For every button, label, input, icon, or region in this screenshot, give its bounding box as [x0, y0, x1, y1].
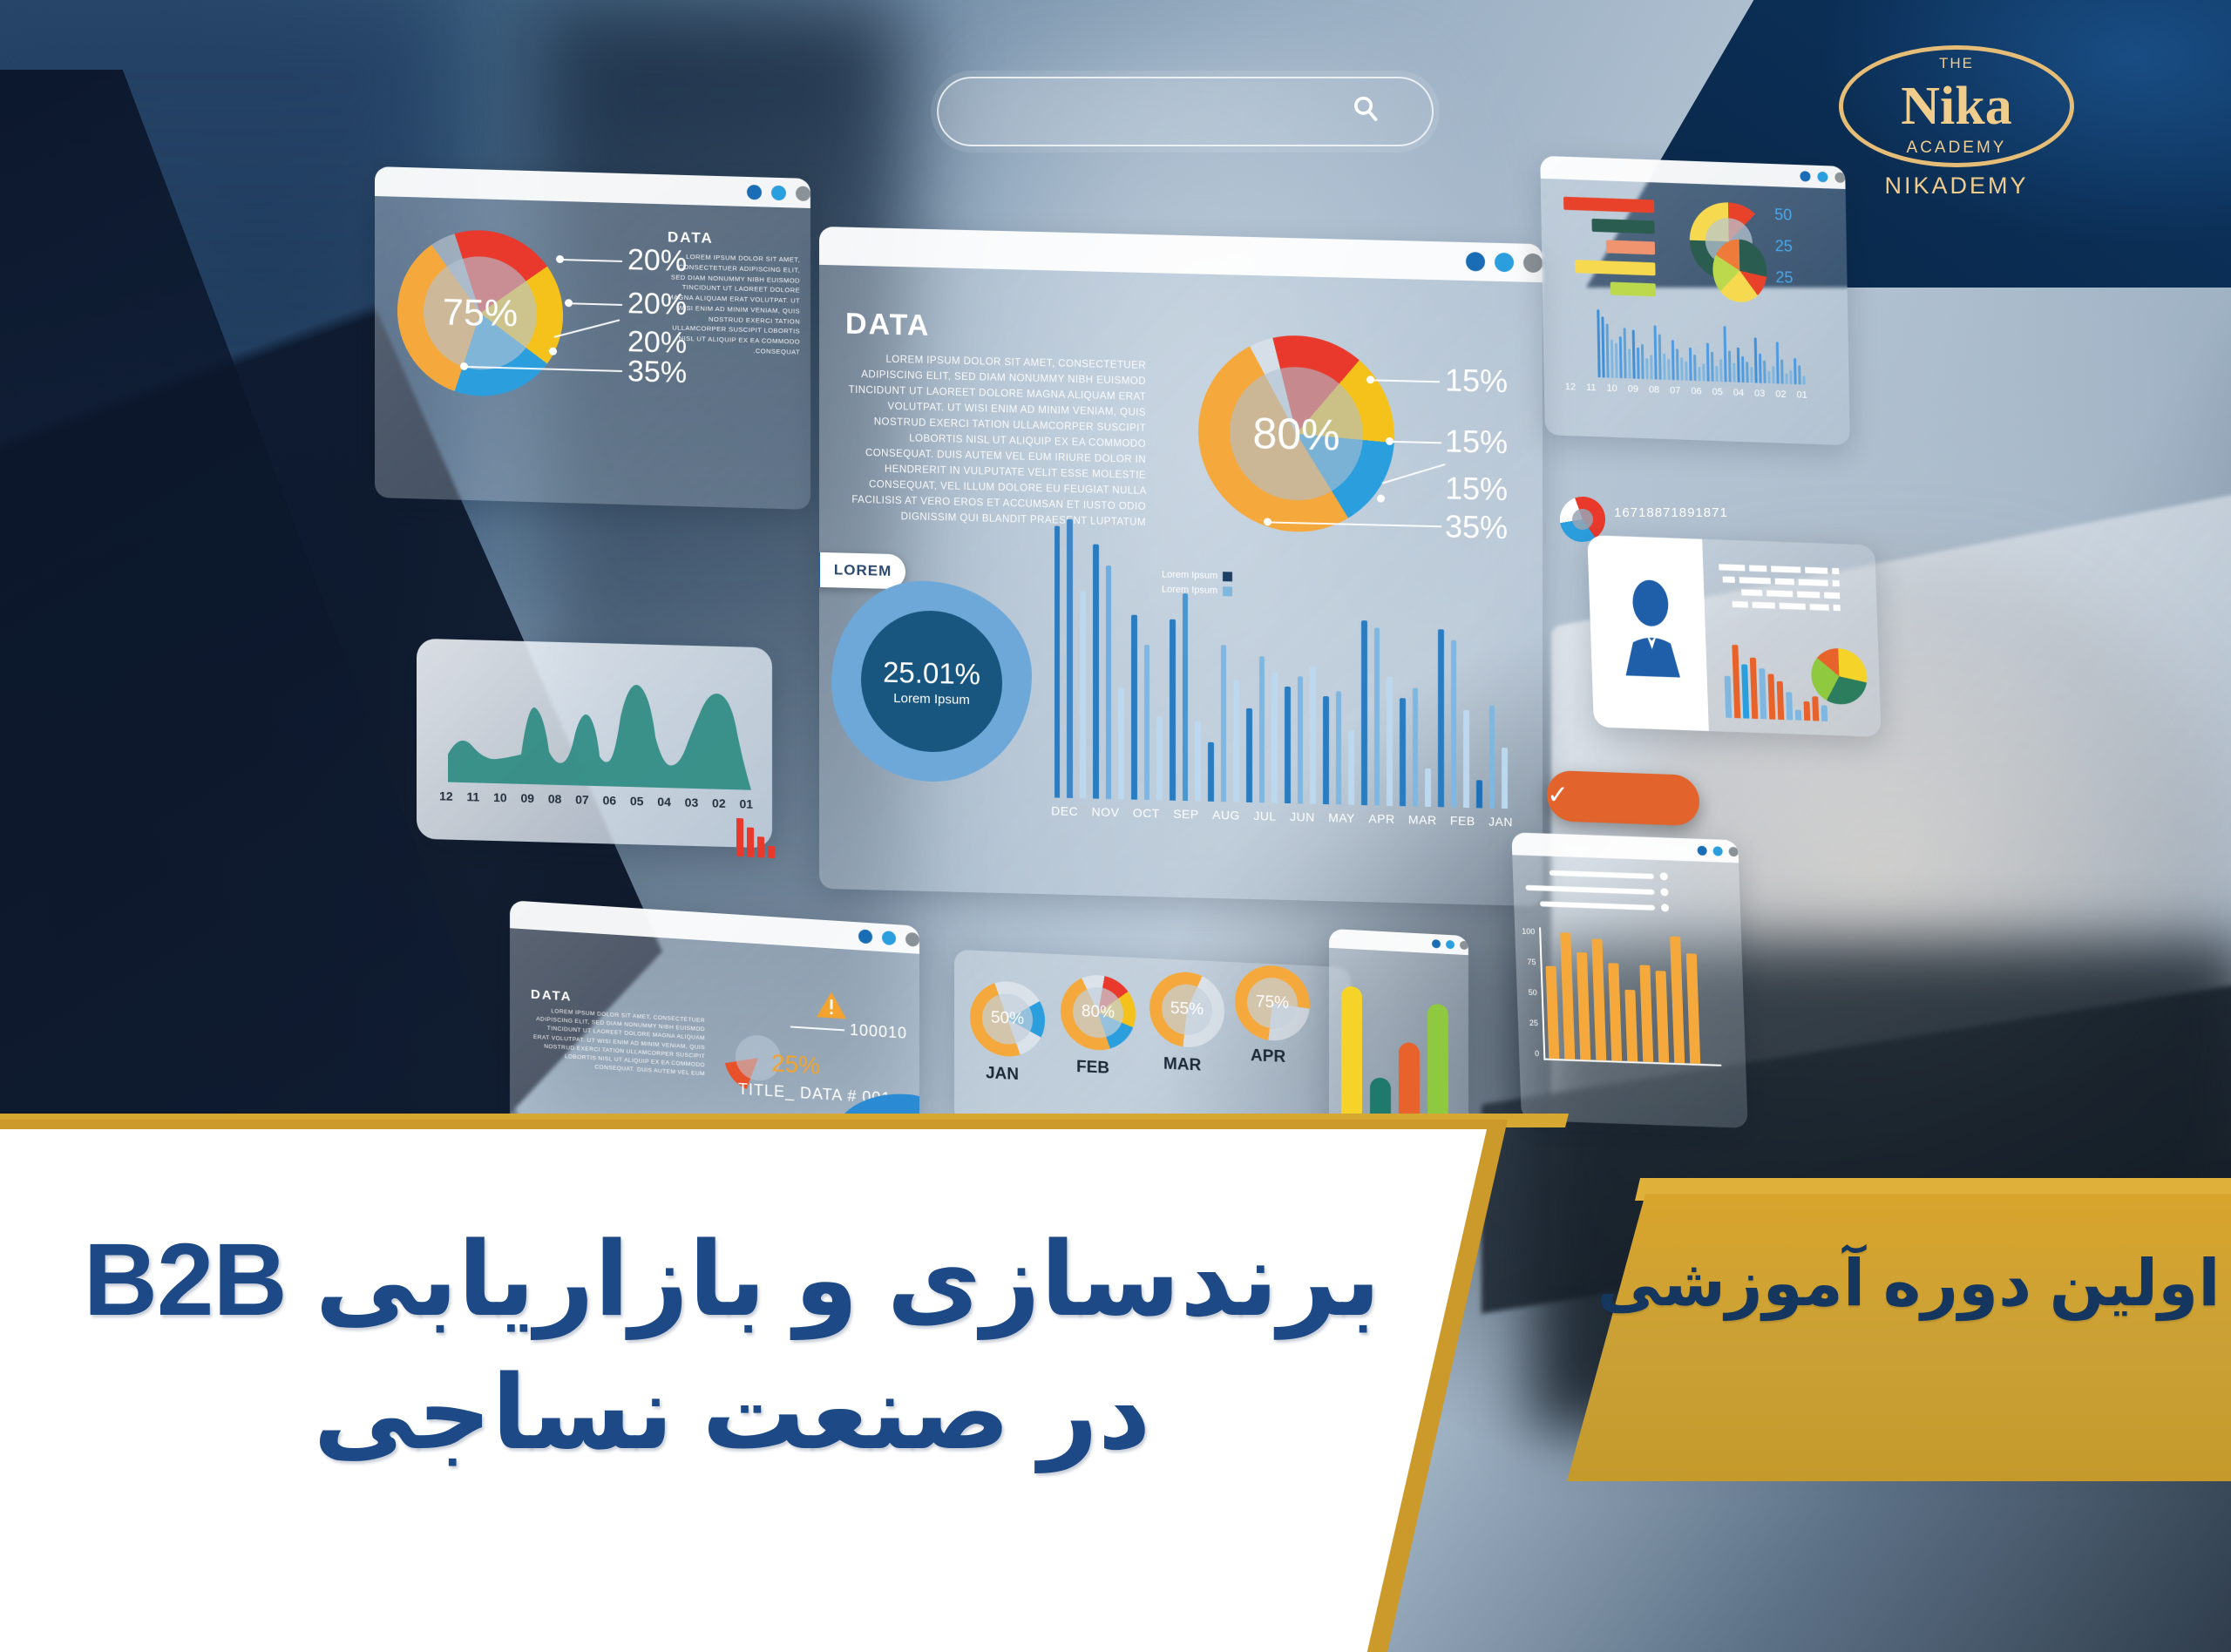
leader-dot — [549, 348, 557, 355]
mini-red-bars-icon — [736, 818, 775, 858]
leader-line — [559, 259, 622, 262]
donut-jan-value: 50% — [970, 979, 1045, 1058]
axis-tick: 04 — [657, 795, 671, 809]
logo-wordmark: NIKADEMY — [1830, 173, 2083, 200]
card-e-lorem: LOREM IPSUM DOLOR SIT AMET, CONSECTETUER… — [531, 1006, 705, 1080]
axis-tick: 10 — [1606, 383, 1617, 393]
leader-line — [554, 319, 620, 337]
dashboard-card-main[interactable]: DATA LOREM IPSUM DOLOR SIT AMET, CONSECT… — [819, 227, 1543, 906]
window-dot-grey — [905, 932, 919, 947]
area-chart-svg — [417, 651, 772, 809]
axis-tick: 08 — [1649, 384, 1659, 395]
axis-tick: NOV — [1092, 804, 1120, 819]
axis-tick: MAY — [1328, 810, 1355, 825]
donut-mar: 55% — [1149, 971, 1224, 1049]
donut-chart-75: 75% — [397, 228, 563, 398]
window-dot-lightblue — [1495, 253, 1514, 273]
axis-tick: FEB — [1450, 814, 1475, 829]
profile-code-top: 16718871891871 — [1614, 505, 1728, 520]
warning-triangle-icon — [817, 991, 846, 1019]
logo-oval-frame: THE Nika ACADEMY — [1839, 45, 2074, 167]
blob-value: 25.01% — [883, 655, 980, 691]
card-body — [1587, 535, 1881, 737]
gauge-label-1: 50 — [1774, 206, 1792, 225]
axis-tick: 11 — [466, 789, 479, 803]
axis-tick: 25 — [1525, 1019, 1538, 1028]
donut-mar-label: MAR — [1163, 1055, 1201, 1076]
dashboard-card-month-donuts[interactable]: 50% JAN 80% FEB 55% MAR 75% APR — [954, 950, 1351, 1142]
donut-label-4: 35% — [627, 355, 687, 390]
card-body: 50 25 25 01 02 03 04 — [1541, 179, 1850, 438]
card-a-heading: DATA — [668, 228, 714, 247]
course-banner — [1536, 1194, 2231, 1481]
axis-tick: 100 — [1522, 927, 1535, 937]
donut-jan-label: JAN — [986, 1064, 1019, 1085]
axis-tick: 09 — [520, 791, 534, 805]
color-bar-chart — [1341, 973, 1448, 1135]
window-dot-grey — [1834, 173, 1845, 183]
donut-label-3: 15% — [1445, 470, 1508, 508]
logo-academy-text: ACADEMY — [1907, 139, 2007, 158]
card-e-percent: 25% — [771, 1049, 820, 1080]
window-dot-blue — [1466, 252, 1485, 272]
logo-nika-text: Nika — [1901, 79, 2011, 133]
course-banner-label: اولین دوره آموزشی — [1577, 1246, 2231, 1321]
donut-feb: 80% — [1061, 973, 1136, 1052]
axis-tick: 07 — [1670, 385, 1680, 396]
card-body: 01 02 03 04 05 06 07 08 09 10 11 12 — [417, 639, 772, 849]
axis-tick: MAR — [1408, 812, 1437, 827]
leader-line — [790, 1026, 844, 1031]
window-dot-lightblue — [771, 185, 786, 200]
window-dot-lightblue — [1817, 172, 1828, 182]
card-e-code: 100010 — [850, 1021, 907, 1043]
window-dot-grey — [1523, 254, 1543, 274]
axis-tick: 50 — [1524, 988, 1537, 998]
gauge-label-2: 25 — [1775, 237, 1793, 256]
dashboard-card-stats[interactable]: 50 25 25 01 02 03 04 — [1540, 156, 1850, 445]
window-dot-lightblue — [1712, 846, 1722, 856]
axis-tick: 04 — [1733, 388, 1744, 398]
axis-tick: 02 — [712, 796, 726, 810]
card-e-heading: DATA — [531, 987, 572, 1005]
horizontal-bar-chart — [1563, 197, 1656, 297]
card-b-lorem: LOREM IPSUM DOLOR SIT AMET, CONSECTETUER… — [845, 351, 1146, 531]
orange-bar-chart — [1544, 928, 1700, 1064]
axis-tick: 10 — [493, 790, 507, 804]
axis-tick: 01 — [1796, 389, 1807, 400]
axis-tick: 03 — [1754, 388, 1765, 398]
monthly-bar-chart — [1054, 540, 1508, 809]
window-dot-blue — [747, 184, 762, 199]
orange-bars-y-axis: 100 75 50 25 0 — [1522, 927, 1539, 1059]
axis-tick: JUN — [1290, 809, 1315, 824]
leader-line — [568, 302, 622, 306]
confirm-button[interactable]: ✓ — [1546, 770, 1700, 826]
axis-tick: AUG — [1212, 808, 1240, 823]
blob-metric: 25.01% Lorem Ipsum — [831, 579, 1032, 784]
axis-tick: 09 — [1628, 383, 1638, 394]
axis-tick: 0 — [1526, 1049, 1539, 1059]
lorem-ipsum-toggle[interactable]: LOREM IPSUM — [819, 551, 905, 590]
donut-label-1: 15% — [1445, 362, 1508, 400]
poster-title: برندسازی و بازاریابی B2B در صنعت نساجی — [52, 1220, 1412, 1474]
search-icon — [1348, 92, 1383, 132]
checklist-rows — [1525, 868, 1669, 912]
donut-jan: 50% — [970, 979, 1045, 1058]
donut-apr: 75% — [1235, 964, 1310, 1042]
axis-tick: 05 — [630, 794, 644, 808]
donut-mar-value: 55% — [1149, 971, 1224, 1049]
axis-tick: JUL — [1253, 809, 1276, 823]
poster-canvas: THE Nika ACADEMY NIKADEMY 75% 20 — [0, 0, 2231, 1652]
window-dot-blue — [1432, 939, 1441, 949]
axis-tick: 12 — [1565, 382, 1576, 392]
axis-tick: APR — [1368, 811, 1394, 826]
donut-label-4: 35% — [1445, 508, 1508, 546]
axis-tick: 11 — [1586, 383, 1597, 393]
card-b-heading: DATA — [845, 308, 930, 343]
axis-tick: DEC — [1051, 803, 1078, 818]
window-dot-blue — [1800, 171, 1810, 181]
axis-tick: 07 — [575, 792, 589, 806]
check-icon: ✓ — [1547, 782, 1570, 809]
blob-caption: Lorem Ipsum — [893, 690, 970, 707]
dashboard-card-profile[interactable] — [1587, 535, 1881, 737]
logo-the-text: THE — [1939, 55, 1974, 72]
mini-bar-chart — [1563, 301, 1805, 385]
donut-center-label: 75% — [397, 228, 563, 398]
card-body: 75% 20% 20% 20% 35% DATA LOREM IPSUM DOL… — [375, 196, 810, 510]
donut-center-label: 80% — [1198, 333, 1394, 533]
donut-apr-label: APR — [1251, 1046, 1285, 1067]
axis-tick: 12 — [439, 789, 453, 802]
axis-tick: 06 — [603, 793, 617, 807]
gauge-label-3: 25 — [1775, 268, 1793, 288]
card-body: 100 75 50 25 0 — [1512, 855, 1747, 1121]
window-dot-blue — [858, 929, 872, 944]
dashboard-card-donut-75[interactable]: 75% 20% 20% 20% 35% DATA LOREM IPSUM DOL… — [375, 166, 810, 510]
card-body: DATA LOREM IPSUM DOLOR SIT AMET, CONSECT… — [819, 265, 1543, 906]
mini-axis: 01 02 03 04 05 06 07 08 09 10 11 12 — [1565, 382, 1807, 401]
axis-tick: 02 — [1775, 389, 1786, 399]
toggle-option-lorem[interactable]: LOREM — [820, 552, 905, 589]
axis-tick: 05 — [1712, 387, 1723, 397]
person-avatar-icon — [1618, 572, 1685, 680]
axis-tick: 01 — [739, 796, 753, 810]
axis-tick: JAN — [1488, 815, 1513, 829]
page-title-line-1: برندسازی و بازاریابی B2B — [52, 1220, 1412, 1341]
axis-tick: 08 — [548, 792, 562, 806]
window-dot-lightblue — [882, 931, 896, 945]
window-dot-grey — [1728, 846, 1738, 856]
donut-chart-80: 80% — [1198, 333, 1394, 533]
axis-tick: 75 — [1522, 958, 1536, 967]
donut-apr-value: 75% — [1235, 964, 1310, 1042]
donut-label-2: 15% — [1445, 423, 1508, 461]
window-dot-grey — [796, 186, 810, 200]
window-dot-blue — [1697, 845, 1706, 855]
axis-tick: 03 — [685, 796, 699, 809]
donut-feb-value: 80% — [1061, 973, 1136, 1052]
toggle-option-ipsum[interactable]: IPSUM — [819, 551, 820, 587]
page-title-line-2: در صنعت نساجی — [52, 1353, 1412, 1474]
card-a-lorem: LOREM IPSUM DOLOR SIT AMET, CONSECTETUER… — [668, 251, 800, 357]
axis-tick: 06 — [1691, 386, 1701, 396]
dashboard-card-orange-bars[interactable]: 100 75 50 25 0 — [1511, 832, 1747, 1128]
axis-tick: OCT — [1133, 806, 1160, 821]
search-bar[interactable] — [937, 77, 1434, 146]
blob-inner: 25.01% Lorem Ipsum — [861, 609, 1002, 754]
leader-line — [1391, 441, 1441, 443]
nikademy-logo: THE Nika ACADEMY NIKADEMY — [1830, 45, 2083, 200]
dashboard-card-area-chart[interactable]: 01 02 03 04 05 06 07 08 09 10 11 12 — [417, 639, 772, 849]
donut-feb-label: FEB — [1076, 1058, 1109, 1079]
leader-dot — [1377, 494, 1385, 502]
card-body: 50% JAN 80% FEB 55% MAR 75% APR — [954, 950, 1351, 1142]
axis-line-y — [1539, 927, 1545, 1060]
axis-tick: SEP — [1173, 807, 1199, 822]
data-text-lines — [1719, 564, 1841, 611]
window-dot-lightblue — [1446, 940, 1455, 950]
monthly-axis: JAN FEB MAR APR MAY JUN JUL AUG SEP OCT … — [1051, 803, 1513, 829]
